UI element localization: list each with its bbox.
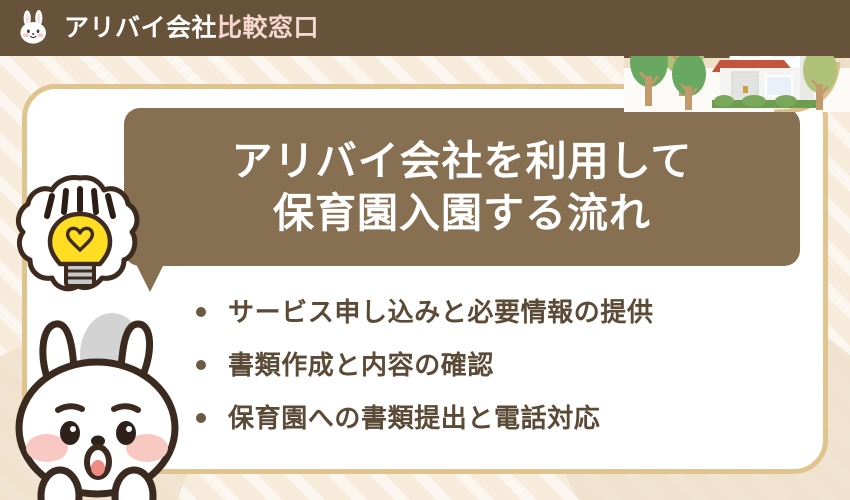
rabbit-face-icon (14, 8, 54, 48)
site-title-prefix: アリバイ会社 (64, 14, 217, 42)
lightbulb-heart-icon (14, 172, 146, 298)
infographic-canvas: アリバイ会社比較窓口 (0, 0, 850, 500)
site-title: アリバイ会社比較窓口 (64, 16, 319, 41)
list-item: 保育園への書類提出と電話対応 (196, 400, 796, 436)
list-item-label: 書類作成と内容の確認 (228, 351, 494, 380)
rabbit-mascot-icon (2, 300, 198, 500)
title-line-2: 保育園入園する流れ (273, 187, 651, 239)
steps-list: サービス申し込みと必要情報の提供 書類作成と内容の確認 保育園への書類提出と電話… (196, 294, 796, 453)
title-bubble: アリバイ会社を利用して 保育園入園する流れ (124, 108, 800, 266)
header-bar: アリバイ会社比較窓口 (0, 0, 850, 56)
list-item-label: 保育園への書類提出と電話対応 (228, 404, 600, 433)
list-item: 書類作成と内容の確認 (196, 347, 796, 383)
site-title-accent: 比較窓口 (217, 14, 319, 42)
title-line-1: アリバイ会社を利用して (232, 135, 693, 187)
list-item-label: サービス申し込みと必要情報の提供 (228, 298, 654, 327)
list-item: サービス申し込みと必要情報の提供 (196, 294, 796, 330)
